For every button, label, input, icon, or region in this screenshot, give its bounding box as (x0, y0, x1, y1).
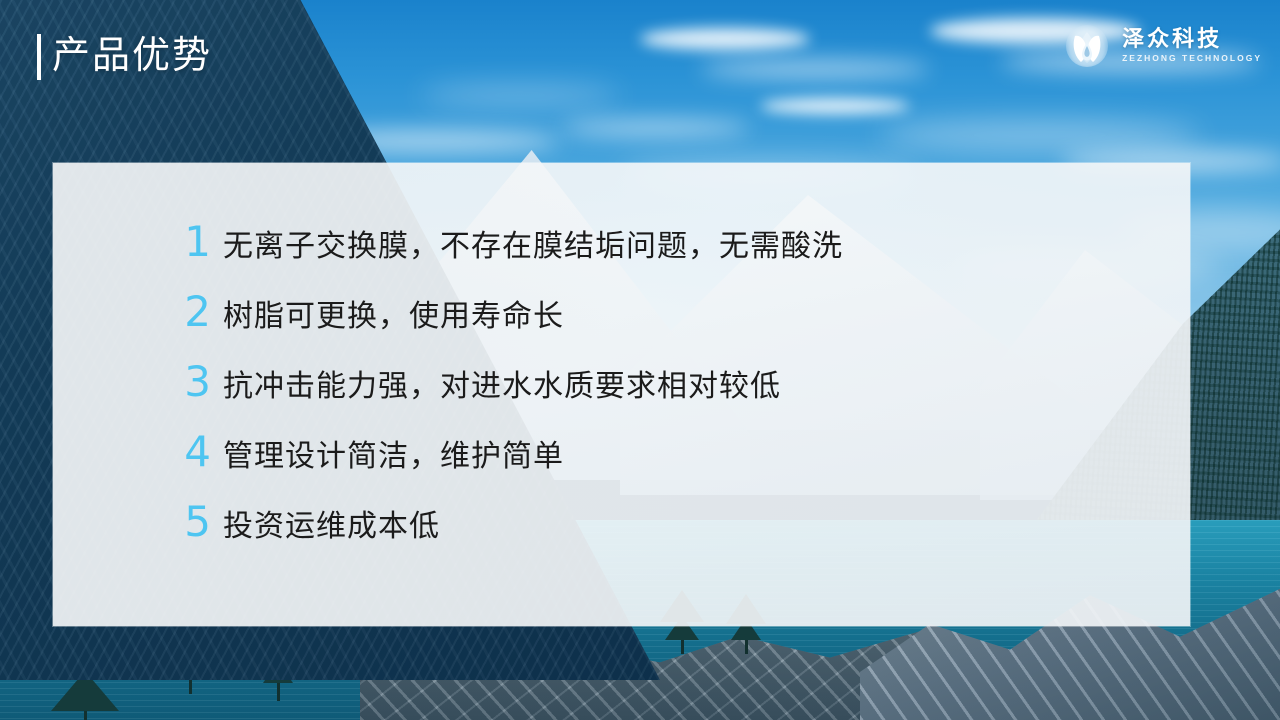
content-panel: 1 无离子交换膜，不存在膜结垢问题，无需酸洗 2 树脂可更换，使用寿命长 3 抗… (53, 163, 1190, 626)
slide: 产品优势 (0, 0, 1280, 720)
list-item: 1 无离子交换膜，不存在膜结垢问题，无需酸洗 (173, 218, 1150, 288)
lotus-droplet-icon (1062, 20, 1112, 70)
list-item-text: 树脂可更换，使用寿命长 (223, 293, 564, 341)
list-item-number: 3 (173, 358, 211, 406)
list-item-text: 抗冲击能力强，对进水水质要求相对较低 (223, 363, 781, 411)
cloud (560, 120, 750, 136)
company-logo: 泽众科技 ZEZHONG TECHNOLOGY (1062, 20, 1262, 70)
advantages-list: 1 无离子交换膜，不存在膜结垢问题，无需酸洗 2 树脂可更换，使用寿命长 3 抗… (173, 218, 1150, 568)
slide-header: 产品优势 (0, 0, 1280, 110)
list-item-text: 管理设计简洁，维护简单 (223, 433, 564, 481)
page-title: 产品优势 (52, 30, 212, 82)
list-item-number: 2 (173, 288, 211, 336)
list-item-number: 5 (173, 498, 211, 546)
title-accent-bar (37, 34, 41, 80)
list-item: 3 抗冲击能力强，对进水水质要求相对较低 (173, 358, 1150, 428)
list-item-text: 无离子交换膜，不存在膜结垢问题，无需酸洗 (223, 223, 843, 271)
logo-name-en: ZEZHONG TECHNOLOGY (1122, 52, 1262, 65)
logo-wordmark: 泽众科技 ZEZHONG TECHNOLOGY (1122, 26, 1262, 65)
list-item: 2 树脂可更换，使用寿命长 (173, 288, 1150, 358)
list-item-number: 1 (173, 218, 211, 266)
list-item-number: 4 (173, 428, 211, 476)
logo-name-cn: 泽众科技 (1122, 26, 1262, 52)
list-item: 5 投资运维成本低 (173, 498, 1150, 568)
list-item-text: 投资运维成本低 (223, 503, 440, 551)
cloud (880, 120, 1200, 150)
list-item: 4 管理设计简洁，维护简单 (173, 428, 1150, 498)
